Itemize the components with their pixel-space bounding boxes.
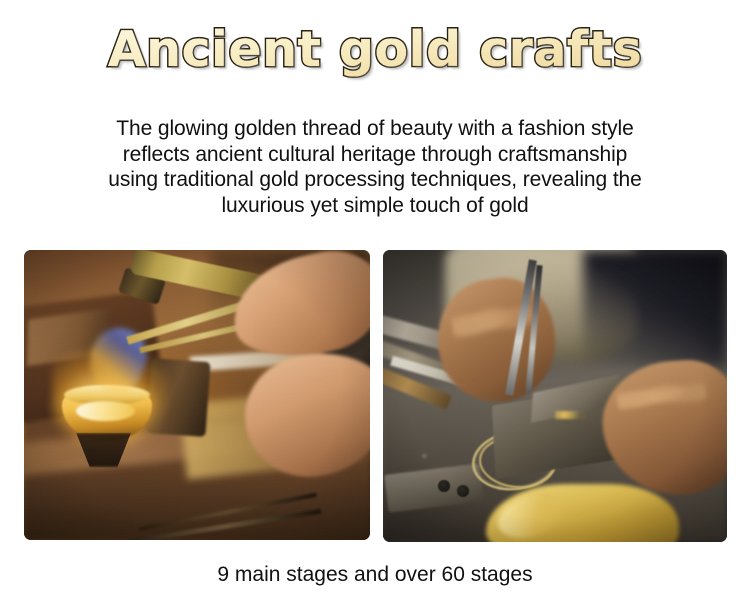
title-stack: Ancient gold crafts Ancient gold crafts — [108, 22, 643, 78]
melting-gold-photo — [24, 250, 370, 540]
intro-line-3: using traditional gold processing techni… — [30, 167, 720, 193]
photo-grain-layer — [24, 250, 370, 540]
poster-root: Ancient gold crafts Ancient gold crafts … — [0, 0, 750, 603]
gallery-caption: 9 main stages and over 60 stages — [0, 562, 750, 588]
intro-line-1: The glowing golden thread of beauty with… — [30, 116, 720, 142]
intro-line-4: luxurious yet simple touch of gold — [30, 193, 720, 219]
image-gallery — [24, 250, 727, 543]
photo-grain-layer — [383, 250, 727, 542]
page-title: Ancient gold crafts Ancient gold crafts — [0, 22, 750, 78]
intro-paragraph: The glowing golden thread of beauty with… — [30, 116, 720, 218]
gold-wire-work-photo — [383, 250, 727, 542]
intro-line-2: reflects ancient cultural heritage throu… — [30, 142, 720, 168]
page-title-text: Ancient gold crafts — [108, 22, 643, 78]
